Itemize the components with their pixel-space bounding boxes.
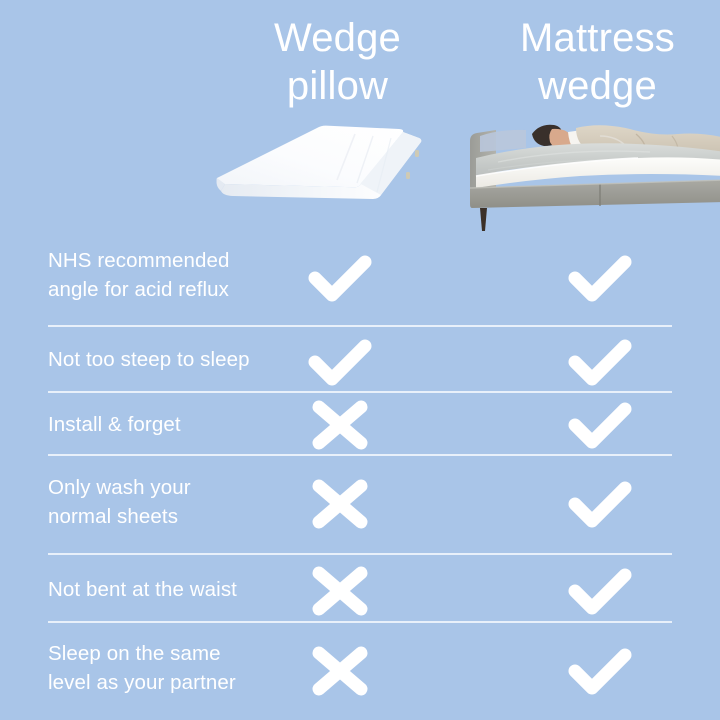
- table-row: Not bent at the waist: [0, 555, 720, 623]
- cross-icon: [307, 565, 373, 617]
- feature-label: NHS recommended angle for acid reflux: [48, 246, 300, 304]
- check-icon: [567, 478, 633, 530]
- cross-icon: [307, 399, 373, 451]
- feature-label: Only wash your normal sheets: [48, 473, 300, 531]
- feature-label: Not bent at the waist: [48, 575, 300, 604]
- check-icon: [567, 252, 633, 304]
- feature-label: Install & forget: [48, 410, 300, 439]
- comparison-table: NHS recommended angle for acid reflux No…: [0, 230, 720, 720]
- feature-label: Sleep on the same level as your partner: [48, 639, 300, 697]
- check-icon: [567, 336, 633, 388]
- mattress-wedge-product-image: [440, 96, 720, 231]
- cross-icon: [307, 645, 373, 697]
- wedge-pillow-product-image: [205, 112, 440, 222]
- table-row: NHS recommended angle for acid reflux: [0, 230, 720, 327]
- check-icon: [567, 645, 633, 697]
- cross-icon: [307, 478, 373, 530]
- table-row: Sleep on the same level as your partner: [0, 623, 720, 720]
- comparison-infographic: Wedge pillow Mattress wedge: [0, 0, 720, 720]
- table-row: Only wash your normal sheets: [0, 456, 720, 555]
- header: Wedge pillow Mattress wedge: [0, 0, 720, 230]
- check-icon: [307, 336, 373, 388]
- table-row: Not too steep to sleep: [0, 327, 720, 393]
- feature-label: Not too steep to sleep: [48, 345, 300, 374]
- check-icon: [567, 565, 633, 617]
- table-row: Install & forget: [0, 393, 720, 456]
- check-icon: [567, 399, 633, 451]
- column-title-wedge-pillow: Wedge pillow: [230, 14, 445, 110]
- check-icon: [307, 252, 373, 304]
